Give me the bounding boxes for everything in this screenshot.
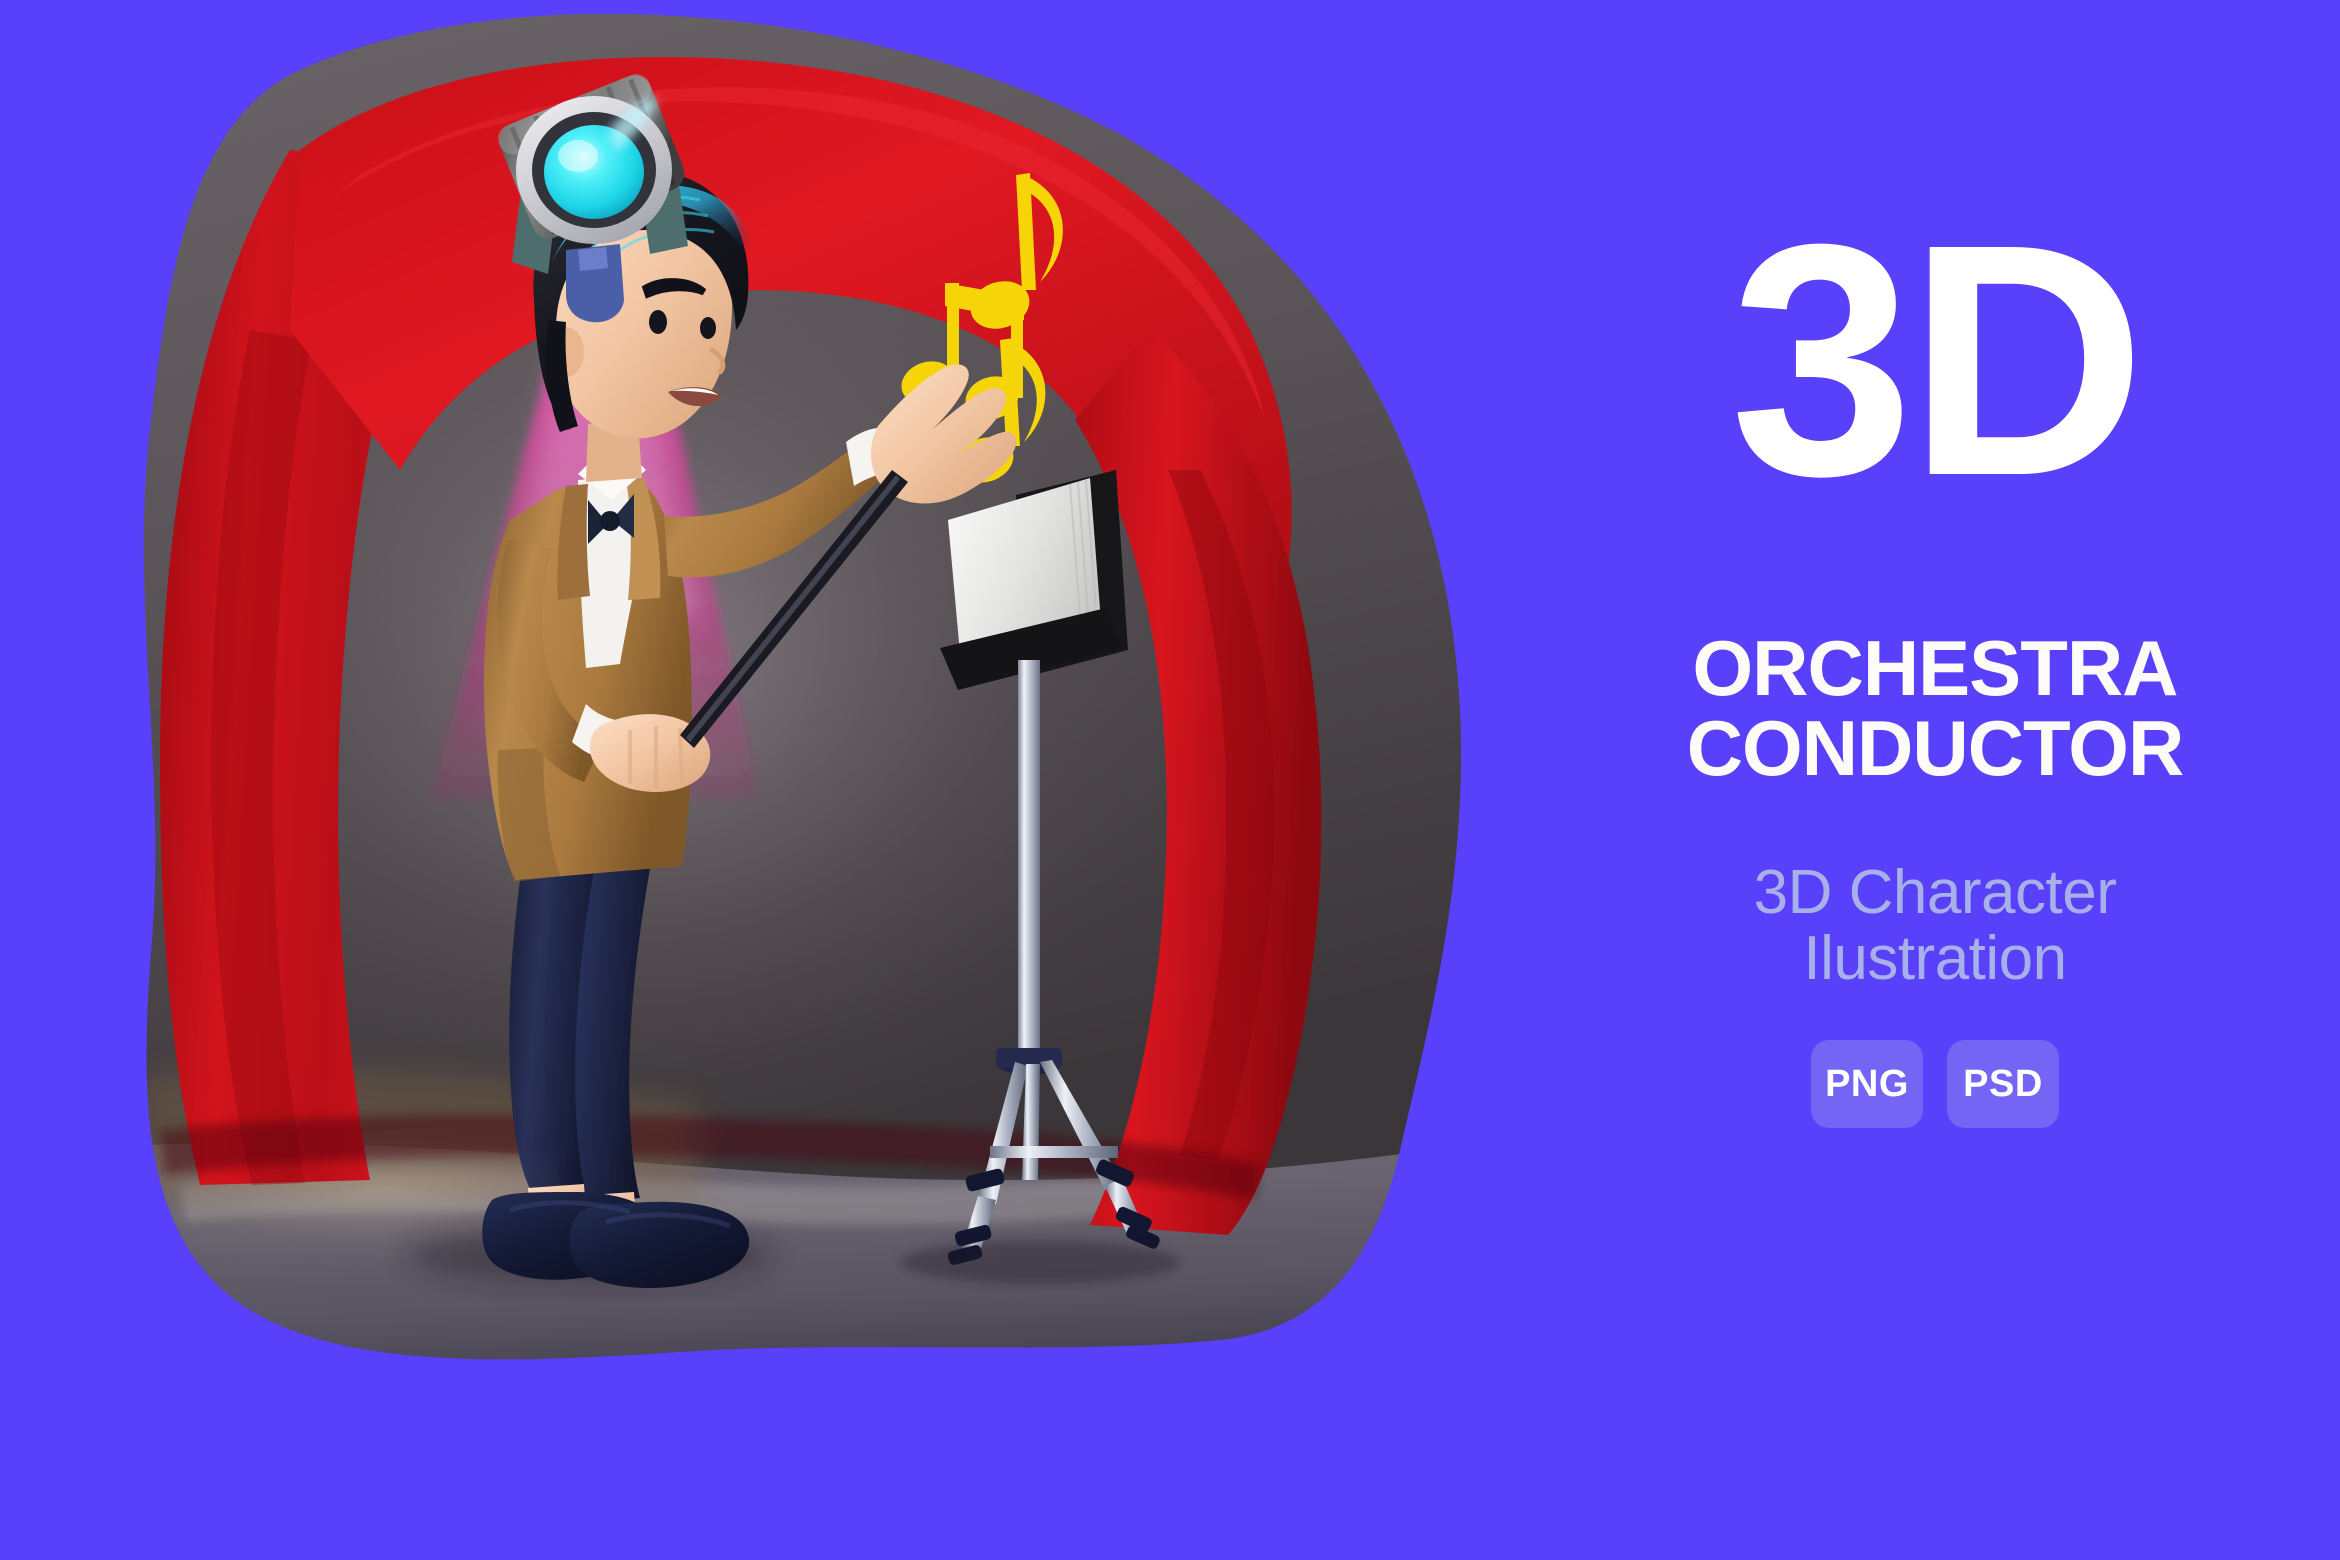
format-badge-png[interactable]: PNG (1811, 1040, 1923, 1128)
eye-right (700, 317, 716, 339)
format-badge-psd[interactable]: PSD (1947, 1040, 2059, 1128)
poster-canvas: 3D ORCHESTRA CONDUCTOR 3D Character Ilus… (0, 0, 2340, 1560)
format-badges: PNG PSD (1530, 1040, 2340, 1128)
eye-left (649, 310, 667, 334)
page-title: 3D (1530, 208, 2340, 512)
music-stand-shadow (900, 1240, 1180, 1284)
product-heading-line-1: ORCHESTRA (1530, 628, 2340, 708)
info-panel: 3D ORCHESTRA CONDUCTOR 3D Character Ilus… (1530, 0, 2340, 1560)
music-stand-pole (1018, 660, 1040, 1060)
product-heading: ORCHESTRA CONDUCTOR (1530, 628, 2340, 789)
product-tagline: 3D Character Ilustration (1530, 860, 2340, 991)
product-tagline-line-2: Ilustration (1530, 926, 2340, 992)
spotlight-lens-glint (558, 140, 598, 172)
product-heading-line-2: CONDUCTOR (1530, 708, 2340, 788)
music-stand-brace (990, 1146, 1118, 1158)
spotlight-yoke-highlight (578, 247, 608, 271)
product-tagline-line-1: 3D Character (1530, 860, 2340, 926)
illustration-artwork (0, 0, 1530, 1560)
